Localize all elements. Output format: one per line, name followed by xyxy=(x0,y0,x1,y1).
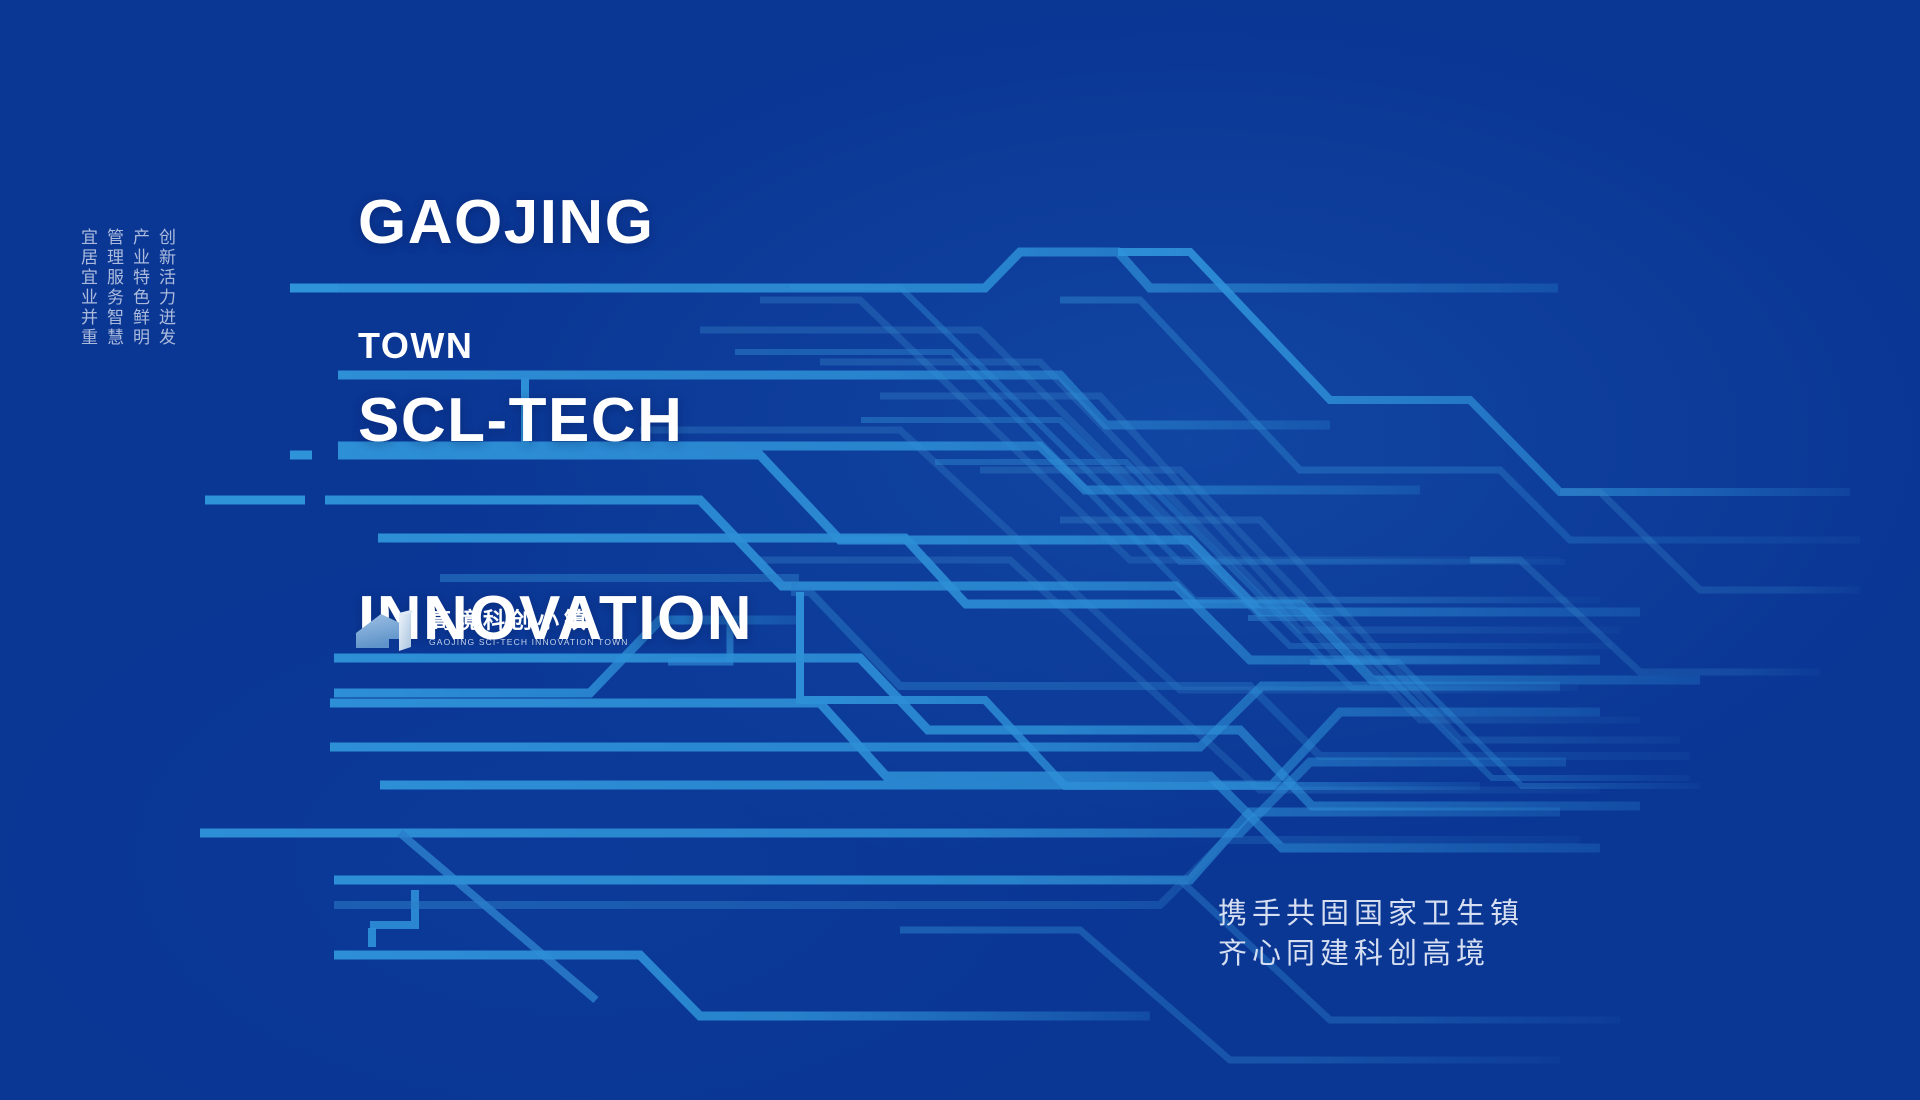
logo-name-en: GAOJING SCI-TECH INNOVATION TOWN xyxy=(429,638,629,647)
circuit-trace-artwork xyxy=(0,0,1920,1100)
bottom-slogan: 携手共固国家卫生镇 齐心同建科创高境 xyxy=(1218,893,1524,973)
headline-line-1: GAOJING xyxy=(358,190,753,256)
vertical-slogan-column-3: 管理服务智慧 xyxy=(104,228,121,348)
vertical-slogan-column-4: 宜居宜业并重 xyxy=(78,228,95,348)
headline-line-4: TOWN xyxy=(358,325,473,367)
page-title: GAOJING SCL-TECH INNOVATION xyxy=(358,58,753,784)
bottom-slogan-line-2: 齐心同建科创高境 xyxy=(1218,933,1524,973)
house-building-icon xyxy=(355,607,417,651)
vertical-slogan: 创新活力迸发 产业特色鲜明 管理服务智慧 宜居宜业并重 xyxy=(78,228,173,348)
vertical-slogan-column-1: 创新活力迸发 xyxy=(156,228,173,348)
logo-text-block: 高境科创小镇 GAOJING SCI-TECH INNOVATION TOWN xyxy=(429,611,629,647)
headline-line-2: SCL-TECH xyxy=(358,388,753,454)
poster-canvas: GAOJING SCL-TECH INNOVATION TOWN 创新活力迸发 … xyxy=(0,0,1920,1100)
bottom-slogan-line-1: 携手共固国家卫生镇 xyxy=(1218,893,1524,933)
logo-lockup: 高境科创小镇 GAOJING SCI-TECH INNOVATION TOWN xyxy=(355,607,629,651)
logo-name-cn: 高境科创小镇 xyxy=(429,611,629,633)
vertical-slogan-column-2: 产业特色鲜明 xyxy=(130,228,147,348)
